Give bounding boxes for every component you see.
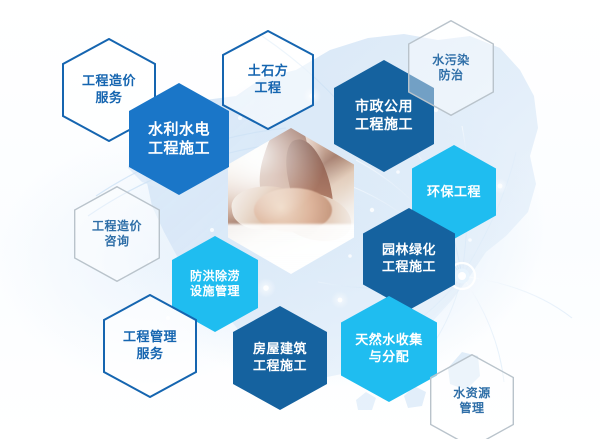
hexagon-label: 天然水收集 与分配 [355, 332, 423, 365]
hexagon-shuili-shuidian[interactable]: 水利水电 工程施工 [129, 83, 229, 195]
hexagon-label: 环保工程 [427, 184, 481, 201]
infographic-canvas: 工程造价 服务土石方 工程水利水电 工程施工市政公用 工程施工水污染 防治环保工… [0, 0, 600, 439]
hexagon-gongcheng-zaojia-zixun[interactable]: 工程造价 咨询 [74, 186, 160, 282]
hexagon-label: 园林绿化 工程施工 [382, 242, 436, 275]
hexagon-shuiwuran-fangzhi[interactable]: 水污染 防治 [408, 20, 494, 116]
hexagon-tianranshui-shouji[interactable]: 天然水收集 与分配 [341, 296, 437, 402]
hexagon-label: 土石方 工程 [248, 63, 289, 96]
hexagon-gongcheng-guanli-fuwu[interactable]: 工程管理 服务 [103, 294, 197, 398]
hexagon-label: 市政公用 工程施工 [355, 98, 413, 134]
hexagon-label: 工程造价 咨询 [92, 219, 142, 250]
hexagon-label: 工程管理 服务 [123, 329, 177, 362]
hexagon-tushifang-gongcheng[interactable]: 土石方 工程 [222, 30, 314, 130]
hexagon-label: 防洪除涝 设施管理 [190, 269, 240, 300]
hexagon-fangwu-jianzhu[interactable]: 房屋建筑 工程施工 [233, 306, 327, 410]
hexagon-label: 水利水电 工程施工 [148, 120, 210, 158]
hexagon-label: 工程造价 服务 [82, 73, 136, 106]
hexagon-label: 房屋建筑 工程施工 [253, 341, 307, 374]
hexagon-yuanlin-lvhua[interactable]: 园林绿化 工程施工 [363, 208, 455, 310]
hexagon-label: 水污染 防治 [432, 53, 470, 84]
hexagon-shuiziyuan-guanli[interactable]: 水资源 管理 [430, 354, 514, 439]
hexagon-label: 水资源 管理 [453, 386, 491, 417]
